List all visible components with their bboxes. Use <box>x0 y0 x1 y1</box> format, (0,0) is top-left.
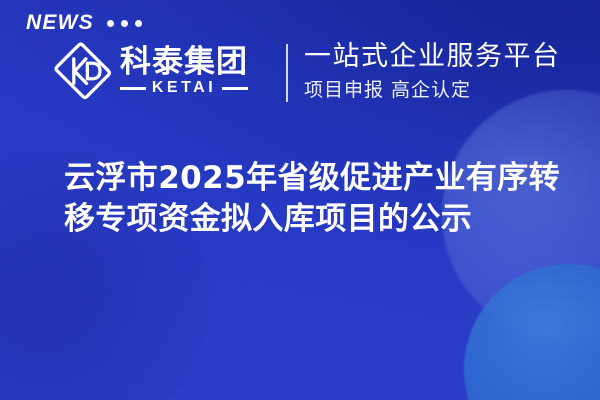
news-label: NEWS <box>26 12 94 33</box>
ketai-diamond-monogram-icon <box>52 40 114 102</box>
rule-left <box>120 87 146 90</box>
page-title: 云浮市2025年省级促进产业有序转 移专项资金拟入库项目的公示 <box>64 158 569 240</box>
brand-name-en: KETAI <box>152 80 216 96</box>
dot-icon <box>107 20 114 27</box>
dot-icon <box>121 20 128 27</box>
brand-name-en-row: KETAI <box>120 80 248 96</box>
brand-wordmark: 科泰集团 KETAI <box>120 46 248 96</box>
brand-logo: 科泰集团 KETAI <box>52 40 248 102</box>
monogram-d-icon <box>87 63 100 79</box>
news-banner: NEWS 科泰集团 KETAI 一站式企业服务平 <box>0 0 600 400</box>
page-title-line-2: 移专项资金拟入库项目的公示 <box>64 199 569 240</box>
news-dots-icon <box>107 18 142 27</box>
rule-right <box>222 87 248 90</box>
brand-name-cn: 科泰集团 <box>120 46 248 78</box>
tagline-block: 一站式企业服务平台 项目申报 高企认定 <box>304 41 561 103</box>
page-title-line-1: 云浮市2025年省级促进产业有序转 <box>64 158 569 199</box>
tagline-secondary: 项目申报 高企认定 <box>304 78 561 103</box>
news-eyebrow: NEWS <box>26 12 142 33</box>
tagline-primary: 一站式企业服务平台 <box>304 41 561 74</box>
dot-icon <box>135 20 142 27</box>
vertical-divider <box>286 44 288 102</box>
